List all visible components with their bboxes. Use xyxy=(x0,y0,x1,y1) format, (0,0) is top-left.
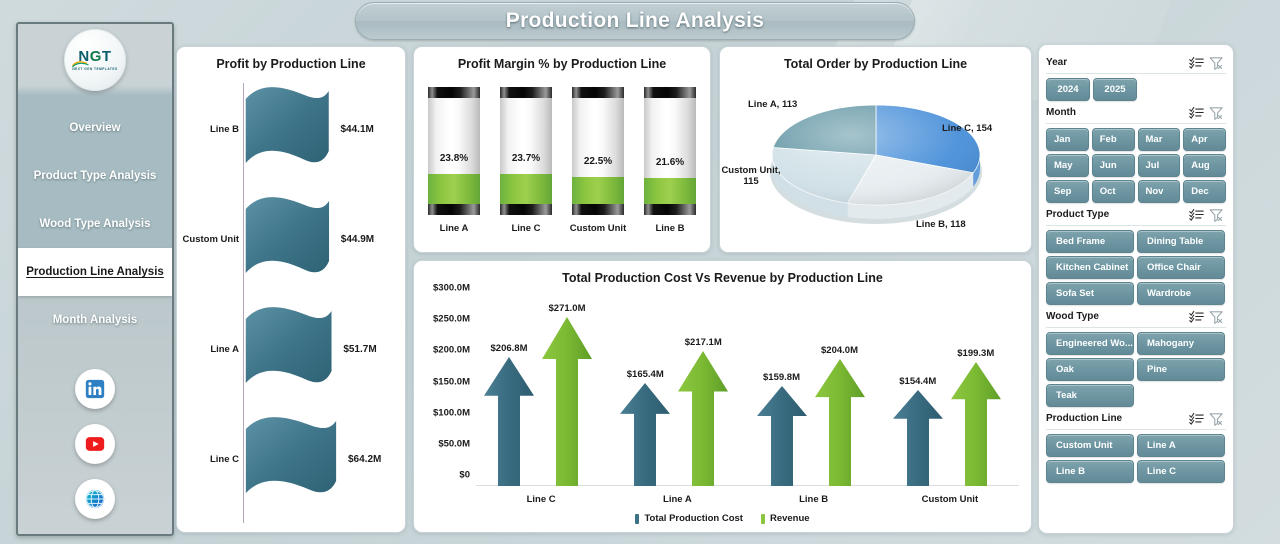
slicer-options: JanFebMarAprMayJunJulAugSepOctNovDec xyxy=(1046,128,1226,203)
slicer-option[interactable]: Oak xyxy=(1046,358,1134,381)
pie-slice-label: Line B, 118 xyxy=(916,219,966,230)
clear-filter-icon xyxy=(1209,412,1224,426)
slicer-header: Year xyxy=(1046,53,1226,72)
slicer-option[interactable]: Feb xyxy=(1092,128,1135,151)
arrow-value-label: $217.1M xyxy=(685,337,722,348)
arrow-value-label: $154.4M xyxy=(899,376,936,387)
flag-row: Custom Unit$44.9M xyxy=(177,187,405,295)
legend-swatch xyxy=(635,514,639,524)
slicer-month: MonthJanFebMarAprMayJunJulAugSepOctNovDe… xyxy=(1046,103,1226,203)
cylinder-cap-top xyxy=(572,87,624,98)
slicer-title: Product Type xyxy=(1046,209,1186,220)
x-axis-category-label: Line C xyxy=(484,494,598,505)
bar-group: $154.4M$199.3MCustom Unit xyxy=(893,299,1007,486)
legend-label: Total Production Cost xyxy=(644,513,743,524)
arrow-value-label: $271.0M xyxy=(549,303,586,314)
arrow-value-label: $199.3M xyxy=(957,348,994,359)
cylinder-gauge: 22.5%Custom Unit xyxy=(572,87,624,252)
slicer-divider xyxy=(1046,123,1226,124)
slicer-option[interactable]: Dec xyxy=(1183,180,1226,203)
cylinder-category-label: Line C xyxy=(511,223,540,234)
flag-category-label: Line B xyxy=(177,124,239,135)
cylinder-gauges: 23.8%Line A23.7%Line C22.5%Custom Unit21… xyxy=(414,87,710,252)
cylinder-value-label: 23.7% xyxy=(500,153,552,164)
multi-select-button[interactable] xyxy=(1186,105,1206,121)
sidebar-item-product-type-analysis[interactable]: Product Type Analysis xyxy=(18,152,172,200)
website-icon xyxy=(84,488,106,510)
slicer-title: Year xyxy=(1046,57,1186,68)
cylinder-cap-top xyxy=(428,87,480,98)
clear-filter-button[interactable] xyxy=(1206,411,1226,427)
slicer-option[interactable]: Line B xyxy=(1046,460,1134,483)
y-axis-tick: $300.0M xyxy=(433,283,470,294)
slicer-option[interactable]: Nov xyxy=(1138,180,1181,203)
arrow-bar xyxy=(951,362,1001,486)
legend-label: Revenue xyxy=(770,513,810,524)
sidebar-item-label: Production Line Analysis xyxy=(26,266,164,278)
slicer-option[interactable]: Aug xyxy=(1183,154,1226,177)
flag-shape xyxy=(244,415,338,512)
cost-vs-revenue-plot: $0$50.0M$100.0M$150.0M$200.0M$250.0M$300… xyxy=(476,301,1019,486)
slicer-option[interactable]: Office Chair xyxy=(1137,256,1225,279)
x-axis-category-label: Line A xyxy=(620,494,734,505)
logo-swoosh-icon xyxy=(72,60,92,68)
chart-title-margin: Profit Margin % by Production Line xyxy=(414,47,710,71)
sidebar: NGT NEXT GEN TEMPLATES OverviewProduct T… xyxy=(16,22,174,536)
sidebar-item-wood-type-analysis[interactable]: Wood Type Analysis xyxy=(18,200,172,248)
slicer-option[interactable]: Wardrobe xyxy=(1137,282,1225,305)
slicer-option[interactable]: Apr xyxy=(1183,128,1226,151)
slicer-options: Engineered Wo...MahoganyOakPineTeak xyxy=(1046,332,1226,407)
slicer-options: Bed FrameDining TableKitchen CabinetOffi… xyxy=(1046,230,1226,305)
brand-logo: NGT NEXT GEN TEMPLATES xyxy=(64,29,126,91)
profit-by-production-line-card: Profit by Production Line Line B$44.1MCu… xyxy=(176,46,406,533)
pie-slice-label: Line C, 154 xyxy=(942,123,992,134)
arrow-value-label: $159.8M xyxy=(763,372,800,383)
bar-group: $206.8M$271.0MLine C xyxy=(484,299,598,486)
sidebar-item-label: Month Analysis xyxy=(53,314,138,326)
multi-select-icon xyxy=(1189,56,1204,69)
sidebar-item-label: Product Type Analysis xyxy=(34,170,157,182)
chart-legend: Total Production CostRevenue xyxy=(414,513,1031,524)
cylinder-cap-bottom xyxy=(500,204,552,215)
slicer-option[interactable]: Kitchen Cabinet xyxy=(1046,256,1134,279)
slicer-option[interactable]: Jan xyxy=(1046,128,1089,151)
sidebar-nav: OverviewProduct Type AnalysisWood Type A… xyxy=(18,104,172,344)
slicer-option[interactable]: Dining Table xyxy=(1137,230,1225,253)
cylinder-body: 22.5% xyxy=(572,87,624,215)
clear-filter-icon xyxy=(1209,208,1224,222)
slicer-option[interactable]: Sofa Set xyxy=(1046,282,1134,305)
arrow-bar xyxy=(484,357,534,486)
cylinder-gauge: 23.7%Line C xyxy=(500,87,552,252)
filter-panel: Year20242025MonthJanFebMarAprMayJunJulAu… xyxy=(1038,44,1234,534)
page-title-banner: Production Line Analysis xyxy=(355,2,915,40)
slicer-divider xyxy=(1046,429,1226,430)
slicer-options: Custom UnitLine ALine BLine C xyxy=(1046,434,1226,483)
flag-row: Line A$51.7M xyxy=(177,297,405,405)
slicer-year: Year20242025 xyxy=(1046,53,1226,101)
cylinder-value-label: 23.8% xyxy=(428,153,480,164)
arrow-bar xyxy=(678,351,728,486)
x-axis-category-label: Custom Unit xyxy=(893,494,1007,505)
slicer-option[interactable]: 2025 xyxy=(1093,78,1137,101)
multi-select-button[interactable] xyxy=(1186,309,1206,325)
clear-filter-button[interactable] xyxy=(1206,55,1226,71)
y-axis-tick: $250.0M xyxy=(433,314,470,325)
cylinder-cap-top xyxy=(644,87,696,98)
chart-title-orders: Total Order by Production Line xyxy=(720,47,1031,71)
multi-select-button[interactable] xyxy=(1186,55,1206,71)
arrow-value-label: $204.0M xyxy=(821,345,858,356)
slicer-option[interactable]: Pine xyxy=(1137,358,1225,381)
slicer-option[interactable]: Mahogany xyxy=(1137,332,1225,355)
cylinder-category-label: Custom Unit xyxy=(570,223,626,234)
flag-row: Line C$64.2M xyxy=(177,407,405,515)
arrow-bar xyxy=(893,390,943,486)
legend-item[interactable]: Total Production Cost xyxy=(635,513,743,524)
clear-filter-icon xyxy=(1209,106,1224,120)
chart-title-profit: Profit by Production Line xyxy=(177,47,405,71)
multi-select-button[interactable] xyxy=(1186,411,1206,427)
pie-slice-label: Custom Unit, 115 xyxy=(716,165,786,187)
multi-select-button[interactable] xyxy=(1186,207,1206,223)
sidebar-item-label: Wood Type Analysis xyxy=(40,218,151,230)
sidebar-social-website[interactable] xyxy=(75,479,115,519)
multi-select-icon xyxy=(1189,208,1204,221)
clear-filter-button[interactable] xyxy=(1206,105,1226,121)
arrow-bar xyxy=(620,383,670,486)
cylinder-category-label: Line B xyxy=(655,223,684,234)
cylinder-cap-bottom xyxy=(644,204,696,215)
slicer-option[interactable]: Line C xyxy=(1137,460,1225,483)
flag-category-label: Custom Unit xyxy=(177,234,239,245)
bar-group: $159.8M$204.0MLine B xyxy=(757,299,871,486)
slicer-header: Month xyxy=(1046,103,1226,122)
sidebar-item-overview[interactable]: Overview xyxy=(18,104,172,152)
flag-category-label: Line A xyxy=(177,344,239,355)
slicer-production-line: Production LineCustom UnitLine ALine BLi… xyxy=(1046,409,1226,483)
bar-group: $165.4M$217.1MLine A xyxy=(620,299,734,486)
arrow-bar xyxy=(815,359,865,486)
youtube-icon xyxy=(84,433,106,455)
flag-shape xyxy=(244,195,331,292)
slicer-title: Month xyxy=(1046,107,1186,118)
cylinder-value-label: 21.6% xyxy=(644,157,696,168)
page-title: Production Line Analysis xyxy=(506,9,764,33)
slicer-option[interactable]: Custom Unit xyxy=(1046,434,1134,457)
legend-item[interactable]: Revenue xyxy=(761,513,810,524)
slicer-option[interactable]: Teak xyxy=(1046,384,1134,407)
clear-filter-button[interactable] xyxy=(1206,207,1226,223)
cylinder-gauge: 23.8%Line A xyxy=(428,87,480,252)
cylinder-cap-bottom xyxy=(428,204,480,215)
linkedin-icon xyxy=(84,378,106,400)
multi-select-icon xyxy=(1189,106,1204,119)
slicer-divider xyxy=(1046,73,1226,74)
slicer-title: Production Line xyxy=(1046,413,1186,424)
cylinder-cap-top xyxy=(500,87,552,98)
slicer-header: Product Type xyxy=(1046,205,1226,224)
clear-filter-icon xyxy=(1209,56,1224,70)
y-axis-tick: $0 xyxy=(459,470,470,481)
cylinder-gauge: 21.6%Line B xyxy=(644,87,696,252)
flag-shape xyxy=(244,85,330,182)
slicer-option[interactable]: Bed Frame xyxy=(1046,230,1134,253)
slicer-header: Production Line xyxy=(1046,409,1226,428)
legend-swatch xyxy=(761,514,765,524)
multi-select-icon xyxy=(1189,310,1204,323)
slicer-option[interactable]: 2024 xyxy=(1046,78,1090,101)
sidebar-item-production-line-analysis[interactable]: Production Line Analysis xyxy=(18,248,172,296)
slicer-title: Wood Type xyxy=(1046,311,1186,322)
cylinder-value-label: 22.5% xyxy=(572,156,624,167)
slicer-option[interactable]: Line A xyxy=(1137,434,1225,457)
slicer-header: Wood Type xyxy=(1046,307,1226,326)
arrow-bar xyxy=(757,386,807,486)
cylinder-body: 21.6% xyxy=(644,87,696,215)
flag-value-label: $44.9M xyxy=(341,234,374,245)
sidebar-item-label: Overview xyxy=(69,122,120,134)
clear-filter-icon xyxy=(1209,310,1224,324)
y-axis-tick: $50.0M xyxy=(438,438,470,449)
sidebar-social-youtube[interactable] xyxy=(75,424,115,464)
slicer-divider xyxy=(1046,327,1226,328)
slicer-product-type: Product TypeBed FrameDining TableKitchen… xyxy=(1046,205,1226,305)
cylinder-body: 23.8% xyxy=(428,87,480,215)
y-axis-tick: $150.0M xyxy=(433,376,470,387)
flag-value-label: $44.1M xyxy=(340,124,373,135)
clear-filter-button[interactable] xyxy=(1206,309,1226,325)
sidebar-social-linkedin[interactable] xyxy=(75,369,115,409)
slicer-option[interactable]: May xyxy=(1046,154,1089,177)
cylinder-body: 23.7% xyxy=(500,87,552,215)
y-axis-tick: $100.0M xyxy=(433,407,470,418)
slicer-options: 20242025 xyxy=(1046,78,1226,101)
flag-value-label: $64.2M xyxy=(348,454,381,465)
pie-slice-label: Line A, 113 xyxy=(748,99,797,110)
social-links xyxy=(18,369,172,519)
flag-value-label: $51.7M xyxy=(343,344,376,355)
arrow-bar xyxy=(542,317,592,486)
chart-title-cost: Total Production Cost Vs Revenue by Prod… xyxy=(414,261,1031,285)
logo-letter-t: T xyxy=(102,48,112,65)
x-axis-category-label: Line B xyxy=(757,494,871,505)
flag-row: Line B$44.1M xyxy=(177,77,405,185)
slicer-option[interactable]: Engineered Wo... xyxy=(1046,332,1134,355)
multi-select-icon xyxy=(1189,412,1204,425)
slicer-option[interactable]: Jun xyxy=(1092,154,1135,177)
cylinder-cap-bottom xyxy=(572,204,624,215)
slicer-option[interactable]: Sep xyxy=(1046,180,1089,203)
slicer-option[interactable]: Oct xyxy=(1092,180,1135,203)
cylinder-category-label: Line A xyxy=(440,223,469,234)
cost-vs-revenue-card: Total Production Cost Vs Revenue by Prod… xyxy=(413,260,1032,533)
total-order-card: Total Order by Production Line Line C, 1… xyxy=(719,46,1032,253)
arrow-value-label: $165.4M xyxy=(627,369,664,380)
pie-chart: Line C, 154Line B, 118Custom Unit, 115Li… xyxy=(720,81,1031,251)
y-axis-tick: $200.0M xyxy=(433,345,470,356)
profit-margin-card: Profit Margin % by Production Line 23.8%… xyxy=(413,46,711,253)
arrow-value-label: $206.8M xyxy=(491,343,528,354)
sidebar-item-month-analysis[interactable]: Month Analysis xyxy=(18,296,172,344)
slicer-option[interactable]: Mar xyxy=(1138,128,1181,151)
slicer-option[interactable]: Jul xyxy=(1138,154,1181,177)
flag-shape xyxy=(244,305,333,402)
flag-category-label: Line C xyxy=(177,454,239,465)
slicer-wood-type: Wood TypeEngineered Wo...MahoganyOakPine… xyxy=(1046,307,1226,407)
slicer-divider xyxy=(1046,225,1226,226)
